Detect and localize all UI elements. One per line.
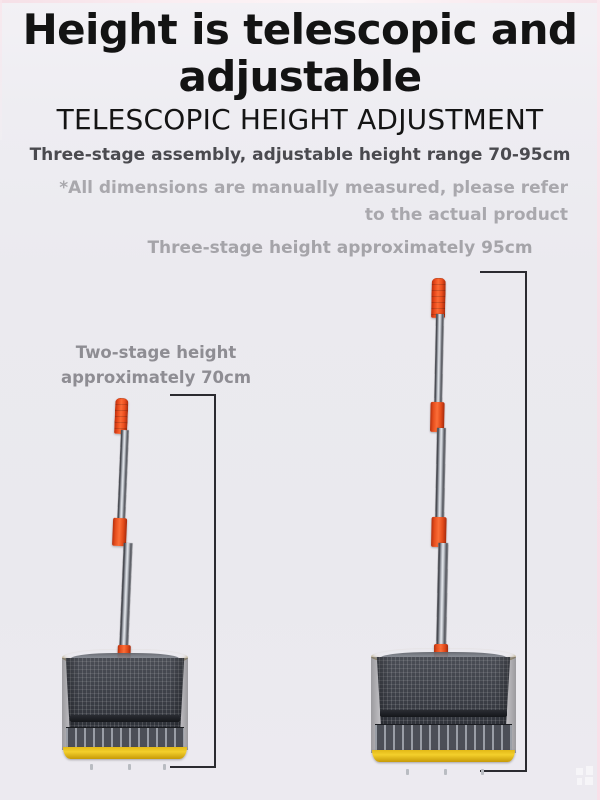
basket-foot (406, 769, 409, 775)
basket-foot (128, 764, 131, 770)
basket-floor-grate (375, 724, 511, 751)
basket-foot (444, 769, 447, 775)
infographic-canvas: Height is telescopic and adjustable TELE… (0, 0, 600, 800)
handle-grip-icon (114, 398, 128, 435)
collector-basket (62, 649, 188, 767)
basket-reinforcement-band (380, 710, 508, 717)
basket-foot (90, 764, 93, 770)
watermark-logo-icon (576, 766, 594, 786)
handle-grip-icon (431, 278, 446, 318)
telescopic-pole-section-2 (435, 428, 446, 524)
basket-foot (163, 764, 166, 770)
product-image-three-stage (300, 0, 600, 800)
basket-rim-bottom (63, 747, 186, 759)
basket-rim-bottom (372, 750, 514, 762)
product-image-two-stage (0, 0, 300, 800)
telescopic-pole-lower (119, 543, 133, 653)
basket-reinforcement-band (70, 715, 181, 722)
collector-basket (371, 648, 516, 772)
telescopic-pole-section-3 (436, 543, 448, 653)
basket-foot (481, 769, 484, 775)
telescopic-pole-section-1 (434, 314, 444, 410)
telescopic-pole-upper (117, 430, 129, 525)
